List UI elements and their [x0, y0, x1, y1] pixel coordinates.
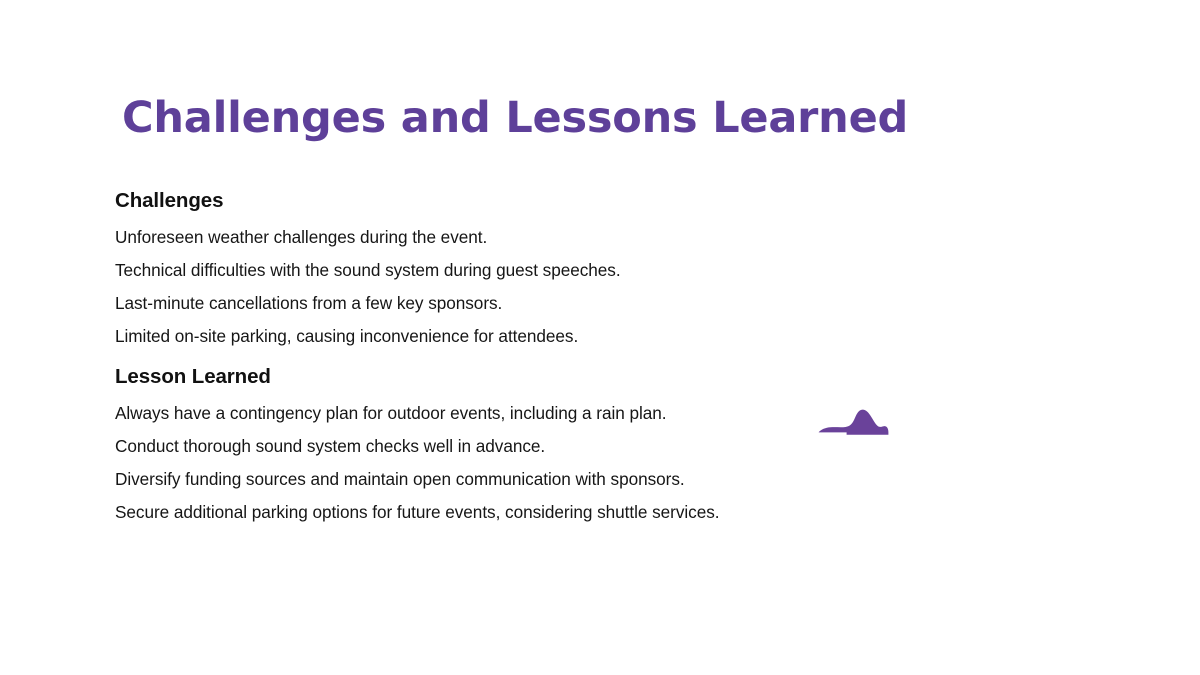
abstract-hill-shape-icon: [816, 405, 892, 437]
slide-canvas: Challenges and Lessons Learned Challenge…: [0, 0, 1200, 675]
section-heading-lesson-learned: Lesson Learned: [115, 362, 875, 393]
slide-content: Challenges Unforeseen weather challenges…: [115, 186, 875, 529]
list-item: Diversify funding sources and maintain o…: [115, 463, 875, 496]
lesson-learned-list: Always have a contingency plan for outdo…: [115, 397, 875, 529]
challenges-list: Unforeseen weather challenges during the…: [115, 221, 875, 353]
list-item: Unforeseen weather challenges during the…: [115, 221, 875, 254]
list-item: Conduct thorough sound system checks wel…: [115, 430, 875, 463]
section-lesson-learned: Lesson Learned Always have a contingency…: [115, 362, 875, 529]
list-item: Limited on-site parking, causing inconve…: [115, 320, 875, 353]
abstract-hill-shape-path: [819, 410, 889, 435]
section-challenges: Challenges Unforeseen weather challenges…: [115, 186, 875, 353]
list-item: Technical difficulties with the sound sy…: [115, 254, 875, 287]
list-item: Last-minute cancellations from a few key…: [115, 287, 875, 320]
section-heading-challenges: Challenges: [115, 186, 875, 217]
page-title: Challenges and Lessons Learned: [122, 93, 908, 144]
list-item: Always have a contingency plan for outdo…: [115, 397, 875, 430]
list-item: Secure additional parking options for fu…: [115, 496, 875, 529]
